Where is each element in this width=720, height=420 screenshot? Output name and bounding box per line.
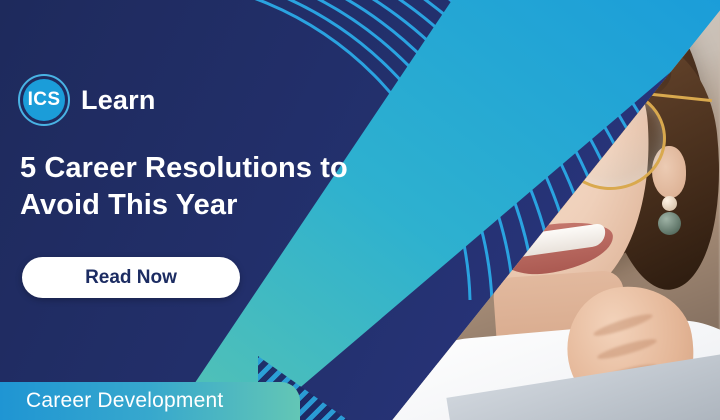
read-now-button[interactable]: Read Now — [22, 257, 240, 298]
page-title: 5 Career Resolutions to Avoid This Year — [20, 150, 350, 224]
logo-disc: ICS — [23, 79, 65, 121]
ics-logo-mark: ICS — [18, 74, 70, 126]
logo-mark-text: ICS — [28, 89, 61, 111]
promotional-banner: ICS Learn 5 Career Resolutions to Avoid … — [0, 0, 720, 420]
category-label: Career Development — [0, 389, 223, 413]
category-banner[interactable]: Career Development — [0, 382, 300, 420]
ics-learn-logo[interactable]: ICS Learn — [18, 74, 156, 126]
logo-wordmark: Learn — [81, 85, 156, 116]
